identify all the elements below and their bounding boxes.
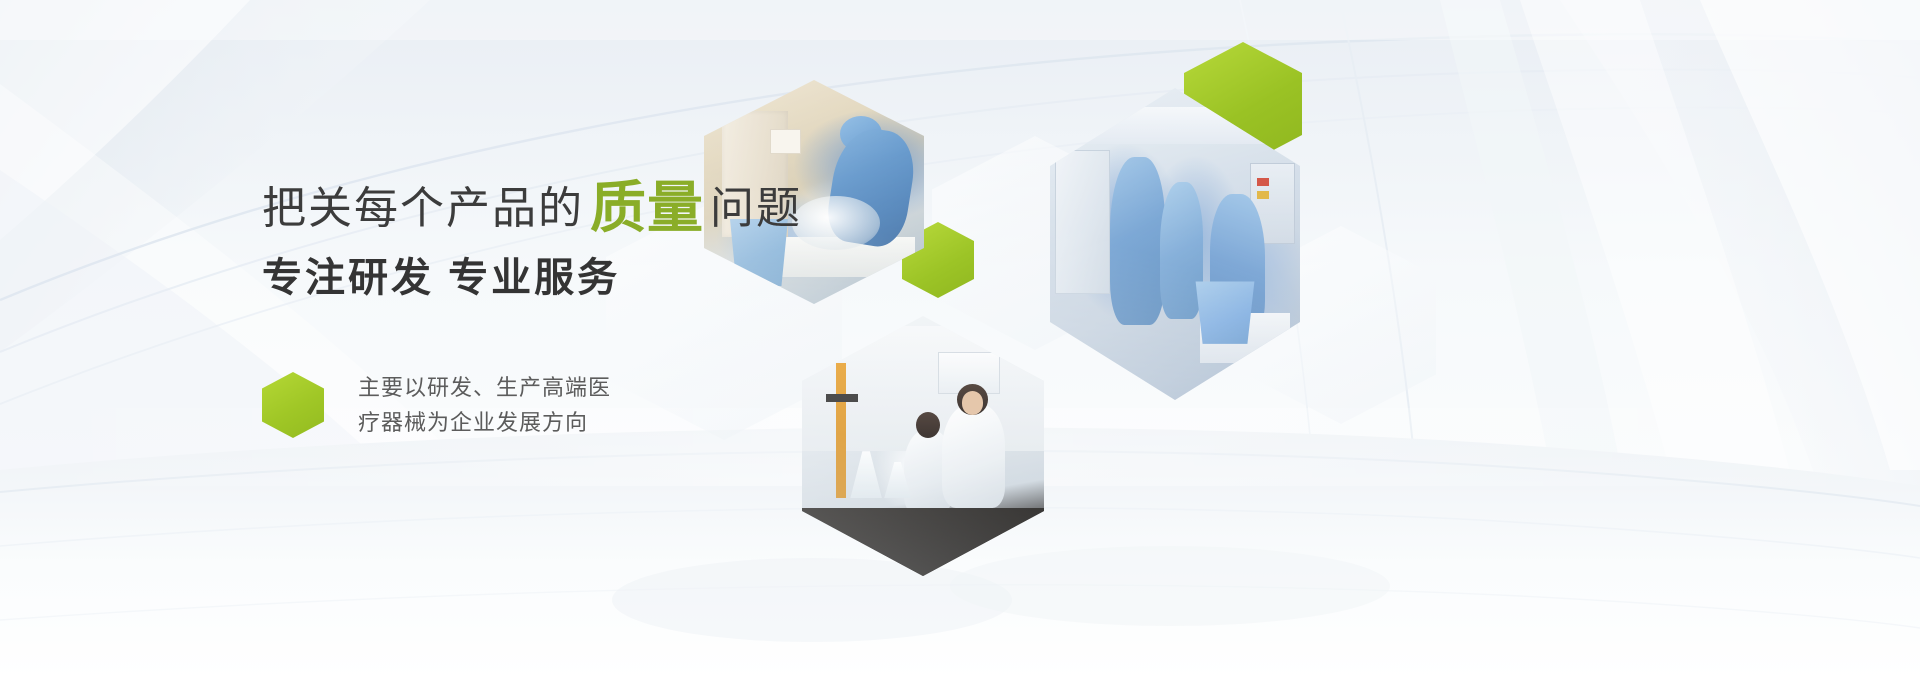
banner-subheadline: 专注研发 专业服务 xyxy=(262,258,1022,298)
banner-copy: 把关每个产品的 质量 问题 专注研发 专业服务 主要以研发、生产高端医 疗器械为… xyxy=(262,176,1022,440)
hero-banner: 把关每个产品的 质量 问题 专注研发 专业服务 主要以研发、生产高端医 疗器械为… xyxy=(0,0,1920,680)
tagline-line-2: 疗器械为企业发展方向 xyxy=(358,405,611,440)
hexagon-icon xyxy=(262,372,324,438)
headline-suffix: 问题 xyxy=(710,187,802,231)
headline-emphasis: 质量 xyxy=(590,180,704,236)
tagline-text: 主要以研发、生产高端医 疗器械为企业发展方向 xyxy=(358,370,611,440)
headline-prefix: 把关每个产品的 xyxy=(262,187,584,231)
banner-headline: 把关每个产品的 质量 问题 xyxy=(262,176,1022,232)
tagline-line-1: 主要以研发、生产高端医 xyxy=(358,370,611,405)
banner-tagline: 主要以研发、生产高端医 疗器械为企业发展方向 xyxy=(262,370,1022,440)
